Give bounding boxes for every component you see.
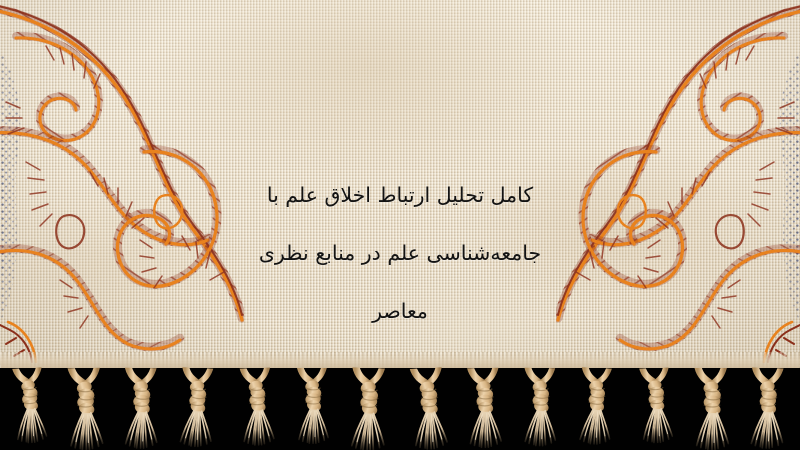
title-line-2: جامعه‌شناسی علم در منابع نظری — [185, 239, 615, 268]
slide-title: کامل تحلیل ارتباط اخلاق علم با جامعه‌شنا… — [185, 152, 615, 355]
tassel-3 — [119, 368, 166, 450]
tassel-1 — [8, 367, 55, 445]
tassel-14 — [744, 367, 793, 450]
tassel-2 — [63, 368, 111, 450]
tassel-7 — [344, 367, 394, 450]
tassel-10 — [518, 368, 564, 448]
black-backdrop — [0, 368, 800, 450]
tassel-12 — [635, 367, 680, 445]
tassel-13 — [690, 368, 737, 450]
tassel-9 — [462, 368, 509, 450]
tassel-8 — [405, 367, 456, 450]
tassel-11 — [573, 367, 621, 447]
tassel-5 — [235, 367, 282, 447]
title-line-1: کامل تحلیل ارتباط اخلاق علم با — [185, 181, 615, 210]
title-line-3: معاصر — [185, 297, 615, 326]
slide-canvas: کامل تحلیل ارتباط اخلاق علم با جامعه‌شنا… — [0, 0, 800, 450]
tassel-6 — [292, 368, 335, 445]
tassel-4 — [173, 367, 222, 450]
